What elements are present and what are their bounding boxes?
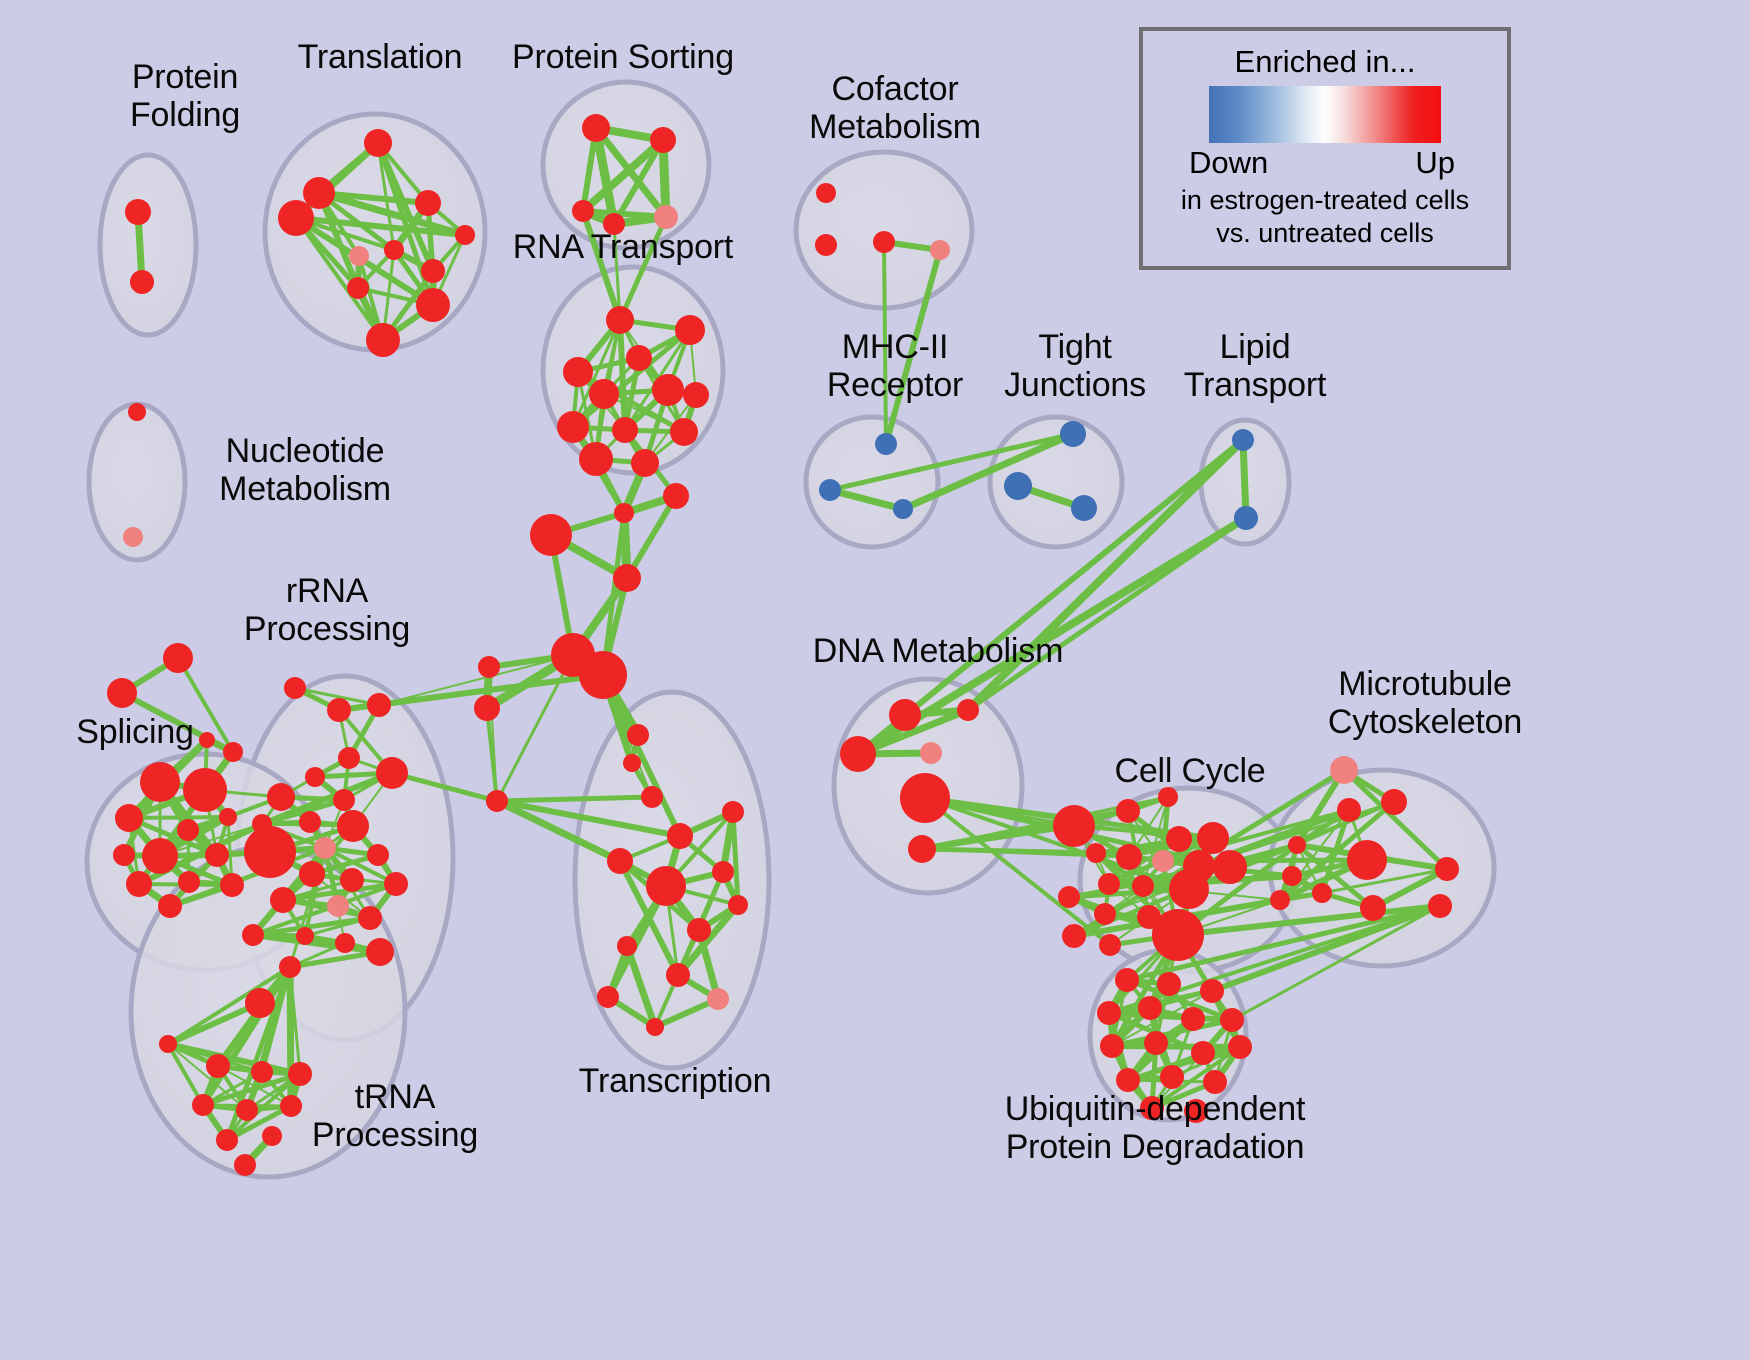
network-node[interactable] xyxy=(415,190,441,216)
network-node[interactable] xyxy=(1116,1068,1140,1092)
network-node[interactable] xyxy=(1086,843,1106,863)
network-node[interactable] xyxy=(889,699,921,731)
network-node[interactable] xyxy=(347,277,369,299)
network-node[interactable] xyxy=(683,382,709,408)
network-node[interactable] xyxy=(1288,836,1306,854)
network-node[interactable] xyxy=(338,747,360,769)
network-node[interactable] xyxy=(1071,495,1097,521)
network-node[interactable] xyxy=(115,804,143,832)
network-node[interactable] xyxy=(1144,1031,1168,1055)
network-node[interactable] xyxy=(284,677,306,699)
network-node[interactable] xyxy=(183,768,227,812)
network-node[interactable] xyxy=(358,906,382,930)
network-node[interactable] xyxy=(125,199,151,225)
network-node[interactable] xyxy=(421,259,445,283)
network-node[interactable] xyxy=(366,938,394,966)
network-node[interactable] xyxy=(314,837,336,859)
network-node[interactable] xyxy=(712,861,734,883)
network-node[interactable] xyxy=(206,1054,230,1078)
network-node[interactable] xyxy=(1152,909,1204,961)
network-node[interactable] xyxy=(815,234,837,256)
network-node[interactable] xyxy=(579,442,613,476)
legend-title: Enriched in... xyxy=(1143,44,1507,80)
network-node[interactable] xyxy=(840,736,876,772)
network-node[interactable] xyxy=(416,288,450,322)
network-node[interactable] xyxy=(220,873,244,897)
network-node[interactable] xyxy=(1228,1035,1252,1059)
network-node[interactable] xyxy=(1282,866,1302,886)
network-node[interactable] xyxy=(177,819,199,841)
network-node[interactable] xyxy=(1160,1065,1184,1089)
network-node[interactable] xyxy=(1062,924,1086,948)
network-node[interactable] xyxy=(612,417,638,443)
network-node[interactable] xyxy=(223,742,243,762)
network-node[interactable] xyxy=(278,200,314,236)
network-node[interactable] xyxy=(279,956,301,978)
network-node[interactable] xyxy=(159,1035,177,1053)
network-node[interactable] xyxy=(178,871,200,893)
network-node[interactable] xyxy=(199,732,215,748)
network-node[interactable] xyxy=(219,808,237,826)
network-node[interactable] xyxy=(606,306,634,334)
network-node[interactable] xyxy=(242,924,264,946)
network-node[interactable] xyxy=(908,835,936,863)
legend-down-label: Down xyxy=(1189,145,1268,181)
network-node[interactable] xyxy=(1099,934,1121,956)
network-node[interactable] xyxy=(1157,972,1181,996)
network-node[interactable] xyxy=(130,270,154,294)
network-node[interactable] xyxy=(1004,472,1032,500)
network-node[interactable] xyxy=(626,345,652,371)
network-node[interactable] xyxy=(603,213,625,235)
network-node[interactable] xyxy=(142,838,178,874)
network-node[interactable] xyxy=(666,963,690,987)
network-node[interactable] xyxy=(572,200,594,222)
network-node[interactable] xyxy=(384,872,408,896)
network-node[interactable] xyxy=(663,483,689,509)
network-node[interactable] xyxy=(1197,822,1229,854)
network-node[interactable] xyxy=(474,695,500,721)
network-node[interactable] xyxy=(819,479,841,501)
network-node[interactable] xyxy=(816,183,836,203)
network-node[interactable] xyxy=(893,499,913,519)
network-edge xyxy=(129,817,228,818)
network-node[interactable] xyxy=(1270,890,1290,910)
network-node[interactable] xyxy=(327,895,349,917)
network-node[interactable] xyxy=(1158,787,1178,807)
network-node[interactable] xyxy=(728,895,748,915)
network-node[interactable] xyxy=(614,503,634,523)
network-node[interactable] xyxy=(1200,979,1224,1003)
network-node[interactable] xyxy=(262,1126,282,1146)
network-node[interactable] xyxy=(1381,789,1407,815)
network-node[interactable] xyxy=(1116,799,1140,823)
network-node[interactable] xyxy=(1220,1008,1244,1032)
network-node[interactable] xyxy=(486,790,508,812)
network-node[interactable] xyxy=(126,871,152,897)
network-node[interactable] xyxy=(158,894,182,918)
network-node[interactable] xyxy=(646,866,686,906)
network-node[interactable] xyxy=(623,754,641,772)
network-node[interactable] xyxy=(654,205,678,229)
network-node[interactable] xyxy=(299,811,321,833)
network-node[interactable] xyxy=(1094,903,1116,925)
network-node[interactable] xyxy=(646,1018,664,1036)
network-node[interactable] xyxy=(234,1154,256,1176)
network-node[interactable] xyxy=(1053,805,1095,847)
network-node[interactable] xyxy=(920,742,942,764)
network-node[interactable] xyxy=(1435,857,1459,881)
network-node[interactable] xyxy=(337,810,369,842)
network-node[interactable] xyxy=(1152,850,1174,872)
network-node[interactable] xyxy=(367,844,389,866)
network-node[interactable] xyxy=(530,514,572,556)
network-node[interactable] xyxy=(1191,1041,1215,1065)
network-node[interactable] xyxy=(236,1099,258,1121)
network-node[interactable] xyxy=(1060,421,1086,447)
network-node[interactable] xyxy=(1098,873,1120,895)
network-node[interactable] xyxy=(930,240,950,260)
network-node[interactable] xyxy=(597,986,619,1008)
network-node[interactable] xyxy=(367,693,391,717)
network-node[interactable] xyxy=(296,927,314,945)
network-edge xyxy=(1112,1046,1240,1047)
network-figure: Protein FoldingTranslationProtein Sortin… xyxy=(0,0,1750,1360)
network-node[interactable] xyxy=(113,844,135,866)
network-edge xyxy=(884,242,886,444)
network-node[interactable] xyxy=(582,114,610,142)
network-node[interactable] xyxy=(1115,968,1139,992)
network-node[interactable] xyxy=(376,757,408,789)
network-node[interactable] xyxy=(1337,798,1361,822)
network-node[interactable] xyxy=(1234,506,1258,530)
network-node[interactable] xyxy=(1312,883,1332,903)
network-node[interactable] xyxy=(1166,826,1192,852)
network-node[interactable] xyxy=(631,449,659,477)
network-node[interactable] xyxy=(579,651,627,699)
network-node[interactable] xyxy=(364,129,392,157)
network-node[interactable] xyxy=(1132,875,1154,897)
network-node[interactable] xyxy=(1213,850,1247,884)
network-node[interactable] xyxy=(245,988,275,1018)
network-node[interactable] xyxy=(1203,1070,1227,1094)
network-node[interactable] xyxy=(873,231,895,253)
network-node[interactable] xyxy=(303,177,335,209)
network-node[interactable] xyxy=(1428,894,1452,918)
legend-caption-line-2: vs. untreated cells xyxy=(1143,218,1507,249)
network-node[interactable] xyxy=(267,783,295,811)
network-node[interactable] xyxy=(563,357,593,387)
network-node[interactable] xyxy=(455,225,475,245)
network-node[interactable] xyxy=(1100,1034,1124,1058)
network-node[interactable] xyxy=(192,1094,214,1116)
network-node[interactable] xyxy=(1181,1007,1205,1031)
network-node[interactable] xyxy=(589,379,619,409)
network-node[interactable] xyxy=(270,887,296,913)
network-node[interactable] xyxy=(349,246,369,266)
network-node[interactable] xyxy=(299,861,325,887)
network-node[interactable] xyxy=(557,411,589,443)
network-node[interactable] xyxy=(1169,869,1209,909)
legend-color-gradient-bar xyxy=(1209,86,1441,143)
network-node[interactable] xyxy=(707,988,729,1010)
network-node[interactable] xyxy=(251,1061,273,1083)
network-node[interactable] xyxy=(900,773,950,823)
network-node[interactable] xyxy=(123,527,143,547)
network-node[interactable] xyxy=(280,1095,302,1117)
network-node[interactable] xyxy=(627,724,649,746)
network-node[interactable] xyxy=(335,933,355,953)
network-node[interactable] xyxy=(617,936,637,956)
legend-box: Enriched in... Down Up in estrogen-treat… xyxy=(1139,27,1511,270)
network-node[interactable] xyxy=(641,786,663,808)
network-node[interactable] xyxy=(652,374,684,406)
legend-caption-line-1: in estrogen-treated cells xyxy=(1143,185,1507,216)
network-node[interactable] xyxy=(667,823,693,849)
network-node[interactable] xyxy=(107,678,137,708)
network-node[interactable] xyxy=(333,789,355,811)
network-node[interactable] xyxy=(1184,1099,1208,1123)
network-node[interactable] xyxy=(1116,844,1142,870)
network-node[interactable] xyxy=(366,323,400,357)
network-node[interactable] xyxy=(1330,756,1358,784)
network-node[interactable] xyxy=(163,643,193,673)
network-node[interactable] xyxy=(140,762,180,802)
network-node[interactable] xyxy=(288,1062,312,1086)
network-node[interactable] xyxy=(1097,1001,1121,1025)
network-node[interactable] xyxy=(670,418,698,446)
legend-up-label: Up xyxy=(1415,145,1455,181)
network-node[interactable] xyxy=(216,1129,238,1151)
network-node[interactable] xyxy=(478,656,500,678)
network-node[interactable] xyxy=(128,403,146,421)
network-node[interactable] xyxy=(1058,886,1080,908)
network-node[interactable] xyxy=(650,127,676,153)
network-node[interactable] xyxy=(1347,840,1387,880)
network-node[interactable] xyxy=(675,315,705,345)
network-node[interactable] xyxy=(1138,996,1162,1020)
network-node[interactable] xyxy=(384,240,404,260)
network-node[interactable] xyxy=(875,433,897,455)
legend-endpoints: Down Up xyxy=(1189,145,1461,183)
cluster-ellipse-protein-folding xyxy=(100,155,196,335)
network-node[interactable] xyxy=(613,564,641,592)
network-node[interactable] xyxy=(687,918,711,942)
network-node[interactable] xyxy=(1140,1096,1164,1120)
network-node[interactable] xyxy=(1232,429,1254,451)
network-node[interactable] xyxy=(607,848,633,874)
network-node[interactable] xyxy=(340,868,364,892)
network-node[interactable] xyxy=(327,698,351,722)
network-node[interactable] xyxy=(957,699,979,721)
network-node[interactable] xyxy=(244,826,296,878)
network-node[interactable] xyxy=(722,801,744,823)
network-node[interactable] xyxy=(1360,895,1386,921)
network-node[interactable] xyxy=(305,767,325,787)
network-node[interactable] xyxy=(205,843,229,867)
